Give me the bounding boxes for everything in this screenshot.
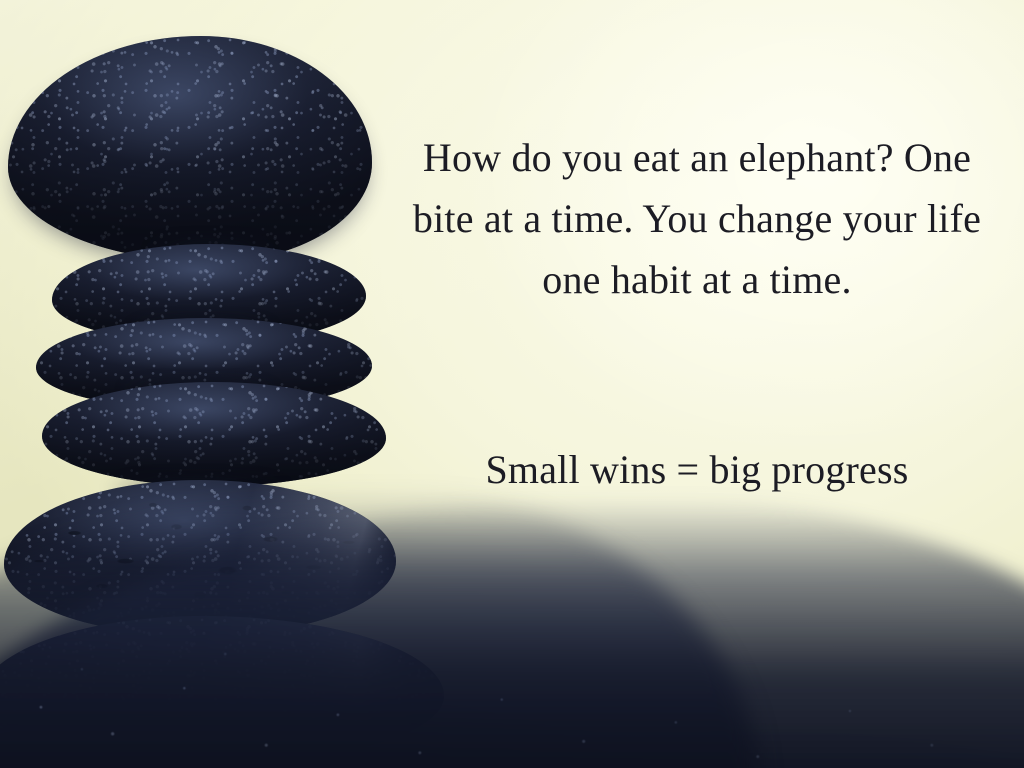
tagline-text: Small wins = big progress — [398, 440, 996, 500]
text-column: How do you eat an elephant? One bite at … — [398, 0, 996, 768]
quote-text: How do you eat an elephant? One bite at … — [398, 128, 996, 310]
quote-graphic-canvas: How do you eat an elephant? One bite at … — [0, 0, 1024, 768]
stone-top-boulder — [8, 36, 372, 262]
